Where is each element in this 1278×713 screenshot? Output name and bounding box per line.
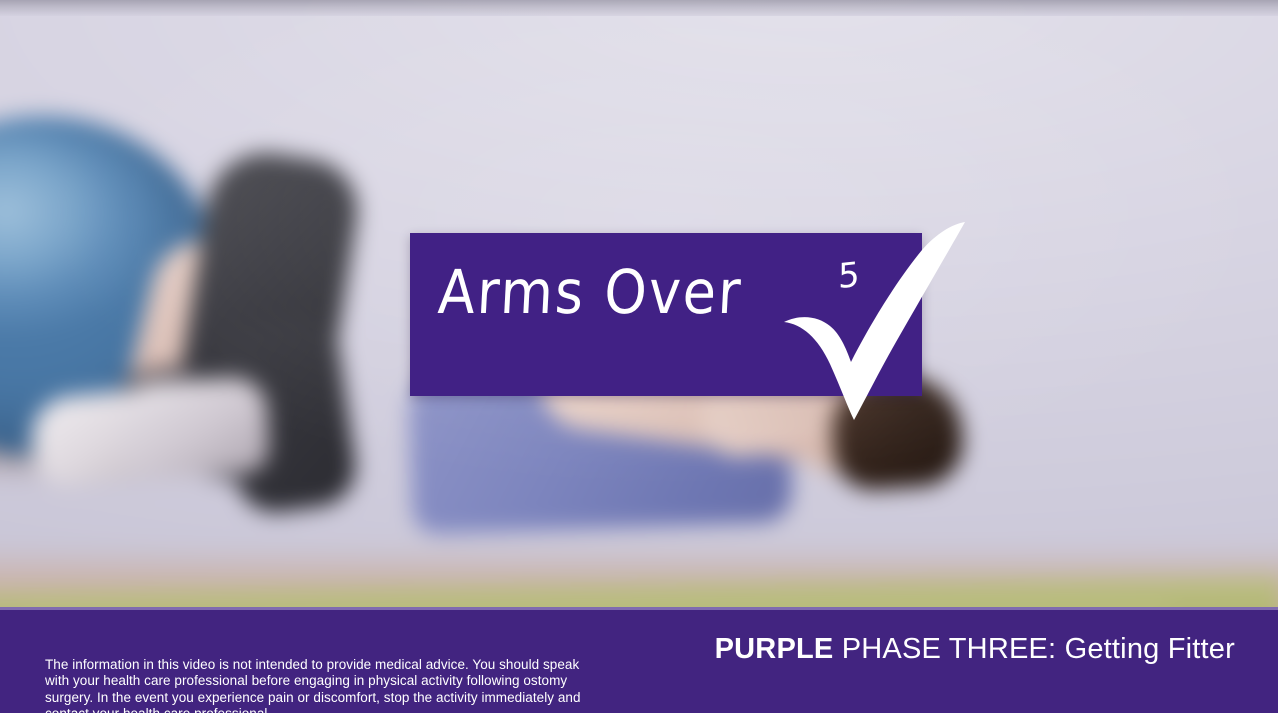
phase-title: PURPLE PHASE THREE: Getting Fitter xyxy=(715,633,1235,666)
phase-label: PHASE THREE: Getting Fitter xyxy=(833,633,1235,665)
person-shoe-right xyxy=(116,376,271,480)
video-frame: Arms Over 5 The information in this vide… xyxy=(0,0,1278,713)
rep-count-label: 5 xyxy=(838,256,878,310)
brand-label: PURPLE xyxy=(715,633,834,665)
exercise-name-label: Arms Over xyxy=(437,259,744,326)
scene-top-edge xyxy=(0,0,1278,16)
bottom-info-bar: The information in this video is not int… xyxy=(0,607,1278,713)
medical-disclaimer-text: The information in this video is not int… xyxy=(45,657,585,713)
